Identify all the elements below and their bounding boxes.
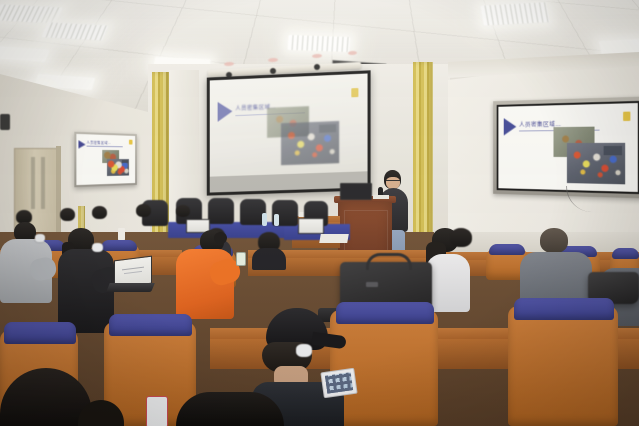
attendee-orange-jacket (176, 230, 238, 322)
face-mask-2 (92, 243, 103, 252)
seat-fg-2-cushion (109, 314, 192, 336)
slide-photo-tag-right (604, 146, 622, 155)
projection-screen[interactable]: 人员密集区域… (207, 70, 371, 195)
seat-fg-1-cushion (4, 322, 76, 344)
tablet-app-grid (325, 372, 353, 393)
attendee-foreground-center (176, 392, 284, 426)
wall-lcd-left[interactable]: 人员密集区域… (74, 132, 137, 187)
front-row-laptop-2[interactable] (298, 218, 324, 234)
attendee-orange-bun (214, 232, 227, 244)
laptop-doc-line-2 (124, 271, 142, 274)
slide-photo-b-right (567, 143, 625, 185)
foreground-phone[interactable] (146, 396, 168, 426)
ceiling-light-7 (481, 2, 550, 25)
slide-photo-tag-main (319, 124, 336, 133)
attendee-far-5 (176, 205, 190, 217)
water-bottle-2 (274, 214, 279, 226)
attendee-white-body (426, 254, 470, 312)
slide-photo-b-main (281, 121, 339, 165)
slide-badge (129, 140, 133, 145)
slide-badge-right (623, 112, 630, 121)
slide-accent-triangle (78, 140, 85, 148)
attendee-laptop-base[interactable] (106, 283, 155, 292)
slide-photo-b (107, 159, 129, 176)
ceiling-light-6 (288, 35, 351, 52)
attendee-far-4 (136, 204, 151, 217)
conference-room-photo: 人员密集区域… 人员密集区域… (0, 0, 639, 426)
attendee-grey-right-head (540, 228, 568, 253)
wall-lcd-right[interactable]: 人员密集区域… (493, 97, 639, 199)
ceiling-light-1 (0, 4, 63, 23)
slide-rule (87, 146, 123, 147)
water-bottle-1 (262, 213, 267, 226)
ceiling-track-spotlight-2 (270, 68, 276, 74)
podium-laptop-screen[interactable] (340, 183, 372, 200)
slide-badge-main (351, 88, 358, 97)
bag-handle (366, 253, 412, 270)
attendee-far-2 (60, 208, 75, 221)
ceiling-track-spotlight-3 (314, 64, 320, 70)
attendee-grey-jacket (0, 222, 54, 306)
attendee-behind-white (450, 228, 472, 247)
notebook-open (319, 234, 349, 243)
seat-fg-4[interactable] (508, 306, 618, 426)
seat-r3-cushion (612, 248, 639, 259)
presenter-glasses (386, 180, 400, 184)
wall-speaker (0, 114, 10, 130)
tablet-device[interactable] (320, 368, 357, 398)
door-frame-right (56, 146, 61, 234)
face-mask-3 (296, 344, 312, 357)
ceiling-light-9 (599, 39, 639, 54)
podium-papers (373, 195, 389, 199)
office-chair-2[interactable] (208, 198, 234, 224)
bag-logo-plate (366, 282, 378, 287)
seat-fg-3-cushion (336, 302, 434, 324)
seat-fg-4-cushion (514, 298, 614, 320)
slide-photo-tag (122, 160, 128, 163)
ceiling-light-2 (42, 22, 109, 40)
slide-heading: 人员密集区域… (87, 139, 112, 145)
attendee-mid-right-body (252, 248, 286, 270)
attendee-far-3 (92, 206, 107, 219)
slide-accent-triangle-main (218, 101, 233, 121)
attendee-orange-phone[interactable] (236, 252, 246, 266)
face-mask-1 (35, 234, 45, 242)
slide-accent-triangle-right (504, 118, 517, 136)
